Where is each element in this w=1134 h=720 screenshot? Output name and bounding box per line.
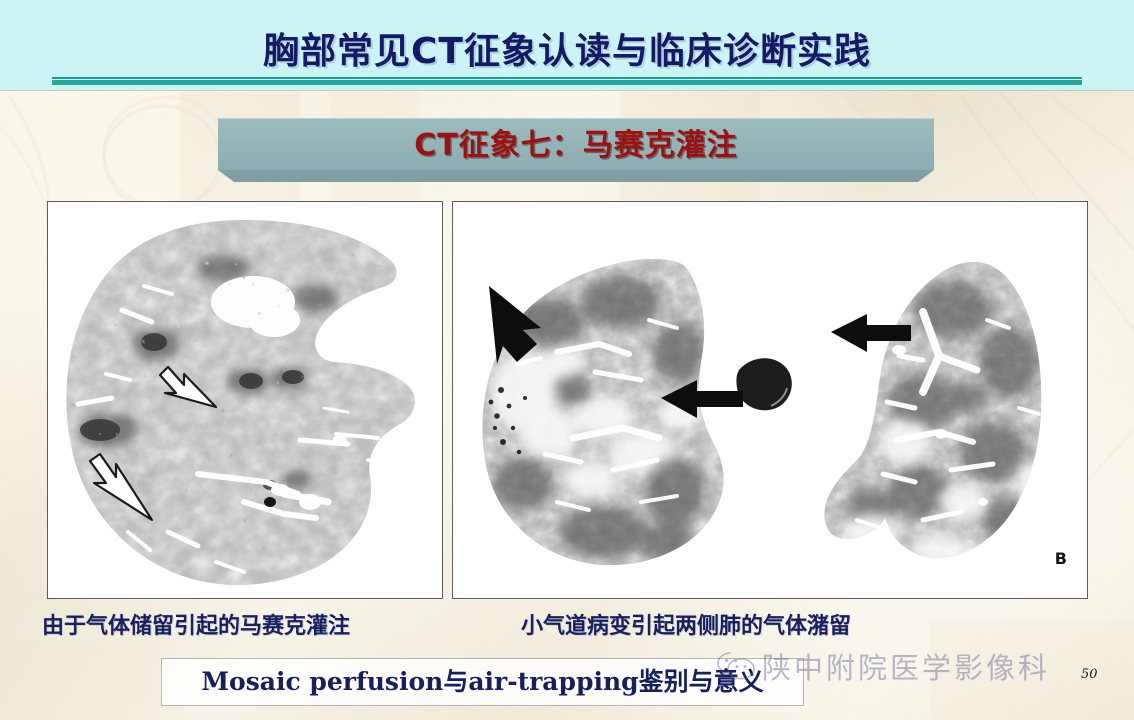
panel-label-b: B <box>1055 549 1067 568</box>
left-ct-panel[interactable] <box>47 201 443 599</box>
page-title: 胸部常见CT征象认读与临床诊断实践 <box>0 22 1134 74</box>
mediastinal-structure <box>736 358 791 410</box>
section-banner-title: CT征象七：马赛克灌注 <box>218 121 934 170</box>
footer-callout-box: Mosaic perfusion与air-trapping鉴别与意义 <box>161 658 804 706</box>
right-ct-image: B <box>453 202 1085 596</box>
left-ct-image <box>48 202 440 596</box>
section-banner: CT征象七：马赛克灌注 <box>218 118 934 182</box>
left-panel-caption: 由于气体储留引起的马赛克灌注 <box>42 608 350 640</box>
right-panel-caption: 小气道病变引起两侧肺的气体潴留 <box>521 608 851 640</box>
header-rule-thick <box>52 80 1082 85</box>
header-rule-thin <box>52 77 1082 79</box>
right-ct-panel[interactable]: B <box>452 201 1088 599</box>
section-banner-bevel <box>218 170 934 182</box>
footer-callout-text: Mosaic perfusion与air-trapping鉴别与意义 <box>162 659 803 705</box>
page-number: 50 <box>1081 667 1098 682</box>
slide-header: 胸部常见CT征象认读与临床诊断实践 <box>0 0 1134 90</box>
